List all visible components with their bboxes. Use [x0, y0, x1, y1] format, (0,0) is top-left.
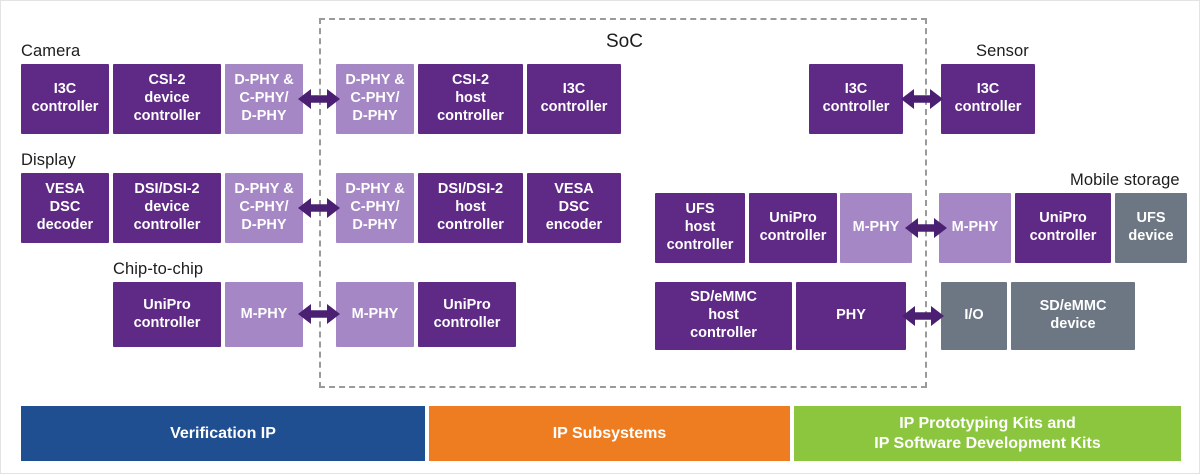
- camera-i3c-controller[interactable]: I3Ccontroller: [21, 64, 109, 134]
- bottom-bar-verification-ip[interactable]: Verification IP: [21, 406, 425, 461]
- c2c-unipro-controller-right[interactable]: UniProcontroller: [418, 282, 516, 347]
- sdemmc-device-line-0: SD/eMMC: [1040, 298, 1107, 316]
- soc-dsi-host-controller[interactable]: DSI/DSI-2hostcontroller: [418, 173, 523, 243]
- storage-unipro-controller-soc-line-1: controller: [760, 228, 827, 246]
- display-dsi-device-controller-line-2: controller: [134, 217, 201, 235]
- camera-csi2-device-controller[interactable]: CSI-2devicecontroller: [113, 64, 221, 134]
- soc-camera-dphy-cphy-dphy-line-2: D-PHY: [345, 108, 404, 126]
- storage-ufs-host-controller-line-2: controller: [667, 237, 734, 255]
- storage-unipro-controller-soc[interactable]: UniProcontroller: [749, 193, 837, 263]
- c2c-mphy-right-label: M-PHY: [352, 306, 399, 324]
- display-dphy-cphy-dphy-line-0: D-PHY &: [234, 181, 293, 199]
- display-dphy-cphy-dphy-line-2: D-PHY: [234, 217, 293, 235]
- soc-csi2-host-controller-line-2: controller: [437, 108, 504, 126]
- display-dsi-device-controller[interactable]: DSI/DSI-2devicecontroller: [113, 173, 221, 243]
- sdemmc-host-controller-line-0: SD/eMMC: [690, 289, 757, 307]
- camera-csi2-device-controller-label: CSI-2devicecontroller: [134, 72, 201, 125]
- storage-unipro-controller-dev-label: UniProcontroller: [1030, 210, 1097, 245]
- c2c-unipro-controller-left[interactable]: UniProcontroller: [113, 282, 221, 347]
- sdemmc-device-line-1: device: [1040, 316, 1107, 334]
- soc-csi2-host-controller-line-1: host: [437, 90, 504, 108]
- c2c-unipro-controller-left-line-0: UniPro: [134, 297, 201, 315]
- display-dphy-cphy-dphy-line-1: C-PHY/: [234, 199, 293, 217]
- storage-ufs-host-controller-line-1: host: [667, 219, 734, 237]
- soc-camera-i3c-controller-line-0: I3C: [541, 81, 608, 99]
- caption-display: Display: [21, 151, 76, 170]
- soc-sensor-i3c-controller-label: I3Ccontroller: [823, 81, 890, 116]
- soc-display-dphy-cphy-dphy[interactable]: D-PHY &C-PHY/D-PHY: [336, 173, 414, 243]
- display-dsi-device-controller-line-1: device: [134, 199, 201, 217]
- soc-display-dphy-cphy-dphy-line-1: C-PHY/: [345, 199, 404, 217]
- soc-camera-dphy-cphy-dphy-line-0: D-PHY &: [345, 72, 404, 90]
- sdemmc-host-controller-line-2: controller: [690, 325, 757, 343]
- sdemmc-host-controller-label: SD/eMMChostcontroller: [690, 289, 757, 342]
- sdemmc-phy-line-0: PHY: [836, 307, 866, 325]
- soc-csi2-host-controller-line-0: CSI-2: [437, 72, 504, 90]
- storage-mphy-soc-label: M-PHY: [853, 219, 900, 237]
- soc-label: SoC: [606, 31, 643, 53]
- display-vesa-dsc-decoder-label: VESADSCdecoder: [37, 181, 93, 234]
- camera-dphy-cphy-dphy-line-1: C-PHY/: [234, 90, 293, 108]
- sdemmc-phy-label: PHY: [836, 307, 866, 325]
- storage-mphy-device-label: M-PHY: [952, 219, 999, 237]
- caption-chip-to-chip: Chip-to-chip: [113, 260, 203, 279]
- soc-vesa-dsc-encoder-line-1: DSC: [546, 199, 602, 217]
- soc-camera-dphy-cphy-dphy-label: D-PHY &C-PHY/D-PHY: [345, 72, 404, 125]
- caption-mobile-storage: Mobile storage: [1070, 171, 1180, 190]
- c2c-unipro-controller-right-line-0: UniPro: [434, 297, 501, 315]
- camera-csi2-device-controller-line-0: CSI-2: [134, 72, 201, 90]
- caption-camera: Camera: [21, 42, 80, 61]
- sdemmc-io[interactable]: I/O: [941, 282, 1007, 350]
- camera-i3c-controller-line-0: I3C: [32, 81, 99, 99]
- storage-ufs-device-label: UFSdevice: [1128, 210, 1173, 245]
- c2c-mphy-left[interactable]: M-PHY: [225, 282, 303, 347]
- display-vesa-dsc-decoder-line-1: DSC: [37, 199, 93, 217]
- camera-dphy-cphy-dphy-line-0: D-PHY &: [234, 72, 293, 90]
- c2c-unipro-controller-right-label: UniProcontroller: [434, 297, 501, 332]
- soc-vesa-dsc-encoder[interactable]: VESADSCencoder: [527, 173, 621, 243]
- storage-mphy-device[interactable]: M-PHY: [939, 193, 1011, 263]
- sdemmc-host-controller-line-1: host: [690, 307, 757, 325]
- arrow-camera: [298, 86, 340, 112]
- camera-i3c-controller-line-1: controller: [32, 99, 99, 117]
- soc-dsi-host-controller-label: DSI/DSI-2hostcontroller: [437, 181, 504, 234]
- storage-mphy-soc-line-0: M-PHY: [853, 219, 900, 237]
- arrow-chip-to-chip: [298, 301, 340, 327]
- sdemmc-device[interactable]: SD/eMMCdevice: [1011, 282, 1135, 350]
- soc-vesa-dsc-encoder-label: VESADSCencoder: [546, 181, 602, 234]
- camera-i3c-controller-label: I3Ccontroller: [32, 81, 99, 116]
- caption-sensor: Sensor: [976, 42, 1029, 61]
- sdemmc-host-controller[interactable]: SD/eMMChostcontroller: [655, 282, 792, 350]
- diagram-canvas: SoC Camera Display Chip-to-chip Sensor M…: [0, 0, 1200, 474]
- soc-display-dphy-cphy-dphy-label: D-PHY &C-PHY/D-PHY: [345, 181, 404, 234]
- c2c-unipro-controller-right-line-1: controller: [434, 315, 501, 333]
- storage-ufs-host-controller-label: UFShostcontroller: [667, 201, 734, 254]
- sdemmc-io-label: I/O: [964, 307, 983, 325]
- arrow-storage: [905, 215, 947, 241]
- bottom-bar-verification-ip-label: Verification IP: [170, 424, 276, 444]
- storage-unipro-controller-dev-line-1: controller: [1030, 228, 1097, 246]
- soc-vesa-dsc-encoder-line-0: VESA: [546, 181, 602, 199]
- camera-dphy-cphy-dphy-label: D-PHY &C-PHY/D-PHY: [234, 72, 293, 125]
- sensor-i3c-controller-line-1: controller: [955, 99, 1022, 117]
- soc-camera-i3c-controller-line-1: controller: [541, 99, 608, 117]
- bottom-bar-ip-subsystems-label: IP Subsystems: [553, 424, 667, 444]
- display-dphy-cphy-dphy[interactable]: D-PHY &C-PHY/D-PHY: [225, 173, 303, 243]
- storage-mphy-soc[interactable]: M-PHY: [840, 193, 912, 263]
- soc-csi2-host-controller[interactable]: CSI-2hostcontroller: [418, 64, 523, 134]
- c2c-mphy-right[interactable]: M-PHY: [336, 282, 414, 347]
- storage-ufs-device[interactable]: UFSdevice: [1115, 193, 1187, 263]
- soc-dsi-host-controller-line-0: DSI/DSI-2: [437, 181, 504, 199]
- c2c-mphy-left-line-0: M-PHY: [241, 306, 288, 324]
- arrow-display: [298, 195, 340, 221]
- soc-camera-dphy-cphy-dphy[interactable]: D-PHY &C-PHY/D-PHY: [336, 64, 414, 134]
- display-dphy-cphy-dphy-label: D-PHY &C-PHY/D-PHY: [234, 181, 293, 234]
- display-vesa-dsc-decoder-line-2: decoder: [37, 217, 93, 235]
- storage-unipro-controller-soc-line-0: UniPro: [760, 210, 827, 228]
- sdemmc-io-line-0: I/O: [964, 307, 983, 325]
- display-dsi-device-controller-label: DSI/DSI-2devicecontroller: [134, 181, 201, 234]
- c2c-unipro-controller-left-label: UniProcontroller: [134, 297, 201, 332]
- c2c-unipro-controller-left-line-1: controller: [134, 315, 201, 333]
- bottom-bar-ip-subsystems[interactable]: IP Subsystems: [429, 406, 790, 461]
- display-dsi-device-controller-line-0: DSI/DSI-2: [134, 181, 201, 199]
- sensor-i3c-controller-label: I3Ccontroller: [955, 81, 1022, 116]
- soc-sensor-i3c-controller-line-1: controller: [823, 99, 890, 117]
- storage-ufs-device-line-0: UFS: [1128, 210, 1173, 228]
- soc-dsi-host-controller-line-1: host: [437, 199, 504, 217]
- storage-unipro-controller-dev-line-0: UniPro: [1030, 210, 1097, 228]
- soc-sensor-i3c-controller-line-0: I3C: [823, 81, 890, 99]
- storage-ufs-host-controller[interactable]: UFShostcontroller: [655, 193, 745, 263]
- camera-dphy-cphy-dphy[interactable]: D-PHY &C-PHY/D-PHY: [225, 64, 303, 134]
- soc-camera-i3c-controller[interactable]: I3Ccontroller: [527, 64, 621, 134]
- soc-display-dphy-cphy-dphy-line-2: D-PHY: [345, 217, 404, 235]
- soc-display-dphy-cphy-dphy-line-0: D-PHY &: [345, 181, 404, 199]
- storage-ufs-host-controller-line-0: UFS: [667, 201, 734, 219]
- storage-ufs-device-line-1: device: [1128, 228, 1173, 246]
- camera-csi2-device-controller-line-2: controller: [134, 108, 201, 126]
- camera-dphy-cphy-dphy-line-2: D-PHY: [234, 108, 293, 126]
- sensor-i3c-controller[interactable]: I3Ccontroller: [941, 64, 1035, 134]
- storage-unipro-controller-dev[interactable]: UniProcontroller: [1015, 193, 1111, 263]
- camera-csi2-device-controller-line-1: device: [134, 90, 201, 108]
- sdemmc-phy[interactable]: PHY: [796, 282, 906, 350]
- bottom-bar-ip-prototyping-label: IP Prototyping Kits andIP Software Devel…: [874, 414, 1100, 454]
- soc-camera-dphy-cphy-dphy-line-1: C-PHY/: [345, 90, 404, 108]
- soc-csi2-host-controller-label: CSI-2hostcontroller: [437, 72, 504, 125]
- sensor-i3c-controller-line-0: I3C: [955, 81, 1022, 99]
- sdemmc-device-label: SD/eMMCdevice: [1040, 298, 1107, 333]
- c2c-mphy-right-line-0: M-PHY: [352, 306, 399, 324]
- display-vesa-dsc-decoder[interactable]: VESADSCdecoder: [21, 173, 109, 243]
- display-vesa-dsc-decoder-line-0: VESA: [37, 181, 93, 199]
- arrow-sensor: [901, 86, 943, 112]
- c2c-mphy-left-label: M-PHY: [241, 306, 288, 324]
- storage-mphy-device-line-0: M-PHY: [952, 219, 999, 237]
- soc-dsi-host-controller-line-2: controller: [437, 217, 504, 235]
- soc-vesa-dsc-encoder-line-2: encoder: [546, 217, 602, 235]
- storage-unipro-controller-soc-label: UniProcontroller: [760, 210, 827, 245]
- soc-camera-i3c-controller-label: I3Ccontroller: [541, 81, 608, 116]
- bottom-bar-ip-prototyping[interactable]: IP Prototyping Kits andIP Software Devel…: [794, 406, 1181, 461]
- soc-sensor-i3c-controller[interactable]: I3Ccontroller: [809, 64, 903, 134]
- arrow-sdemmc: [902, 303, 944, 329]
